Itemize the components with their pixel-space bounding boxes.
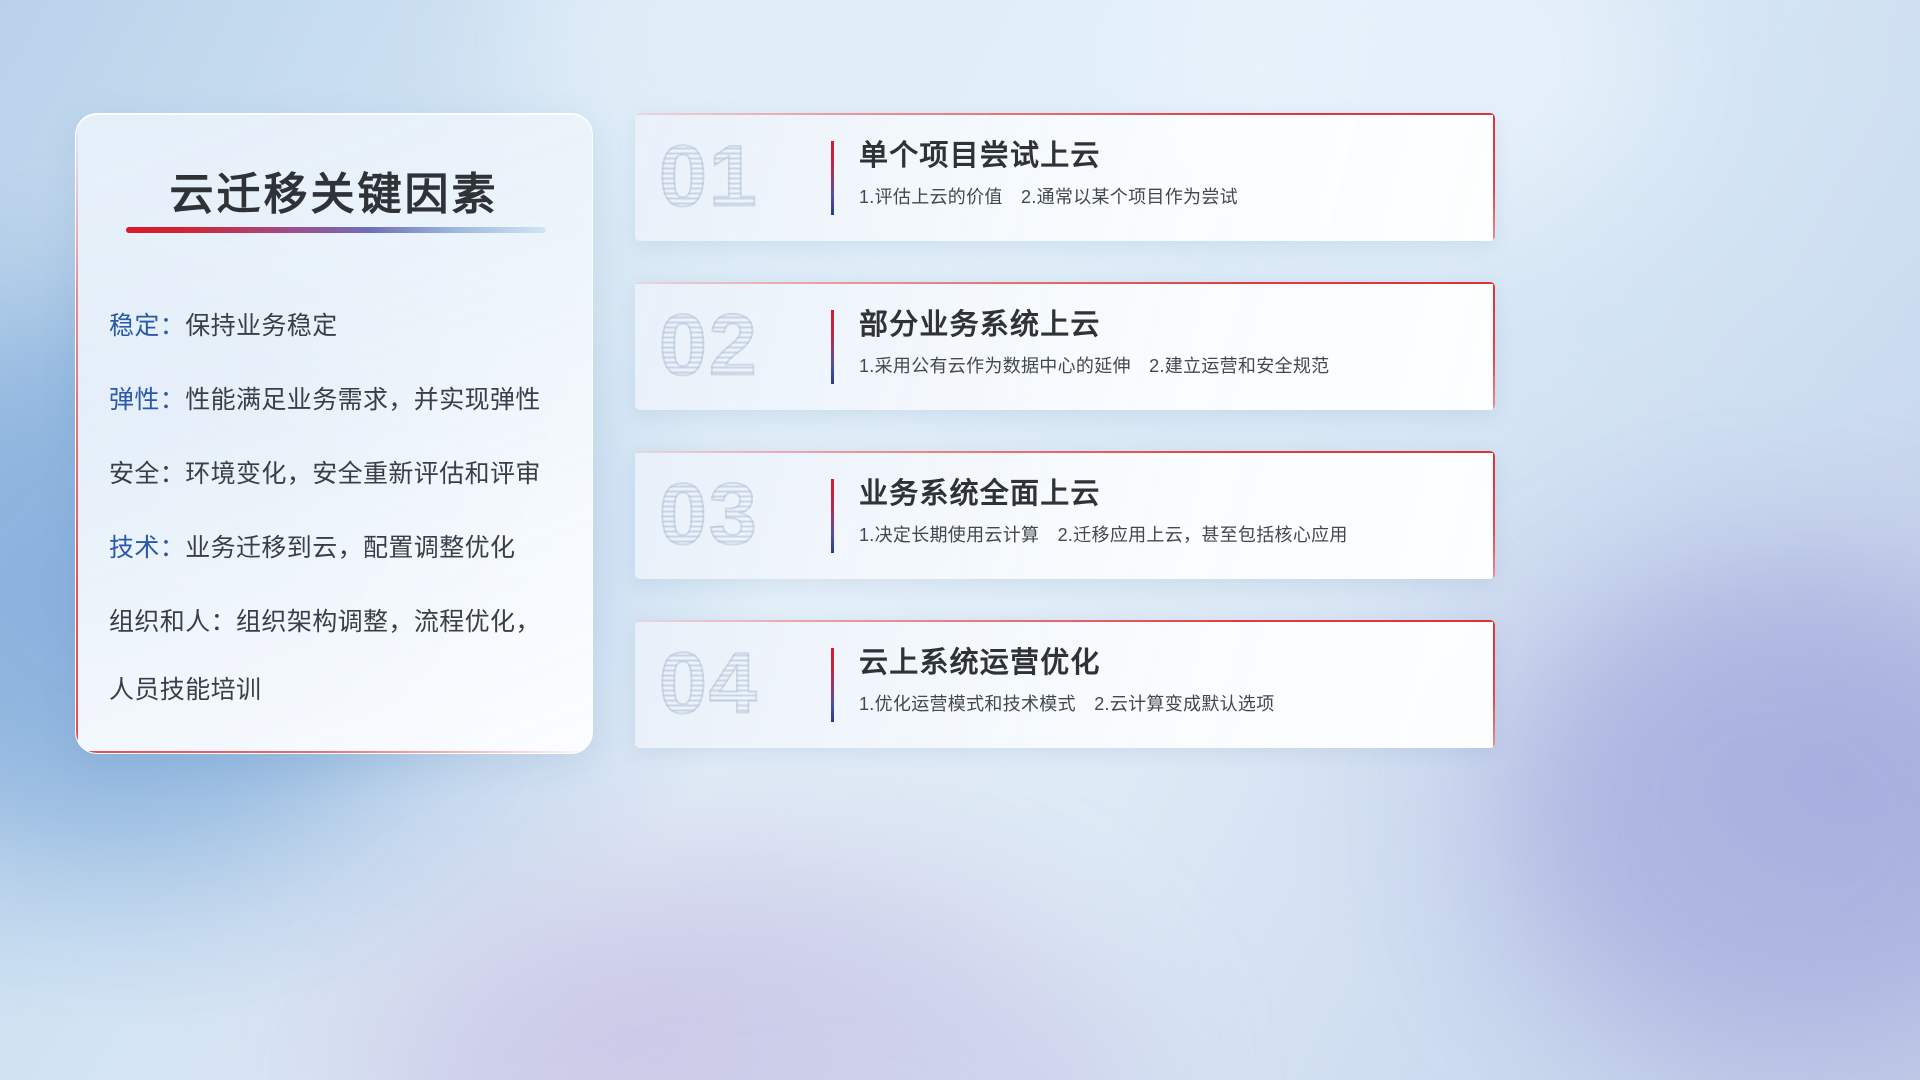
list-item-continuation: 人员技能培训 <box>109 678 568 703</box>
list-item: 稳定：保持业务稳定 <box>109 314 568 339</box>
list-item-text: 业务迁移到云，配置调整优化 <box>185 534 515 562</box>
stage-divider-bar <box>831 648 834 722</box>
stage-title: 云上系统运营优化 <box>859 646 1469 681</box>
list-item-text: 组织架构调整，流程优化， <box>236 608 541 636</box>
stage-number: 04 <box>659 635 759 734</box>
stage-title: 单个项目尝试上云 <box>859 139 1469 174</box>
stage-subtitle: 1.采用公有云作为数据中心的延伸 2.建立运营和安全规范 <box>859 355 1469 378</box>
stage-card-body: 单个项目尝试上云 1.评估上云的价值 2.通常以某个项目作为尝试 <box>859 139 1469 210</box>
stage-number: 01 <box>659 128 759 227</box>
stage-cards-list: 01 单个项目尝试上云 1.评估上云的价值 2.通常以某个项目作为尝试 02 部… <box>635 113 1495 748</box>
stage-number: 03 <box>659 466 759 565</box>
list-item-label: 技术： <box>109 534 185 562</box>
list-item: 弹性：性能满足业务需求，并实现弹性 <box>109 388 568 413</box>
list-item-label: 稳定： <box>109 312 185 340</box>
title-underline-gradient <box>126 227 546 233</box>
stage-number: 02 <box>659 297 759 396</box>
stage-card[interactable]: 01 单个项目尝试上云 1.评估上云的价值 2.通常以某个项目作为尝试 <box>635 113 1495 241</box>
stage-card-body: 业务系统全面上云 1.决定长期使用云计算 2.迁移应用上云，甚至包括核心应用 <box>859 477 1469 548</box>
key-factors-panel: 云迁移关键因素 稳定：保持业务稳定 弹性：性能满足业务需求，并实现弹性 安全：环… <box>75 113 593 754</box>
list-item-text: 性能满足业务需求，并实现弹性 <box>185 386 541 414</box>
stage-title: 业务系统全面上云 <box>859 477 1469 512</box>
stage-divider-bar <box>831 310 834 384</box>
list-item-text: 环境变化，安全重新评估和评审 <box>185 460 541 488</box>
background-blob-right <box>1500 560 1920 1080</box>
stage-subtitle: 1.评估上云的价值 2.通常以某个项目作为尝试 <box>859 186 1469 209</box>
list-item-label: 安全： <box>109 460 185 488</box>
stage-subtitle: 1.优化运营模式和技术模式 2.云计算变成默认选项 <box>859 693 1469 716</box>
stage-card-body: 云上系统运营优化 1.优化运营模式和技术模式 2.云计算变成默认选项 <box>859 646 1469 717</box>
list-item-label: 弹性： <box>109 386 185 414</box>
stage-divider-bar <box>831 479 834 553</box>
stage-subtitle: 1.决定长期使用云计算 2.迁移应用上云，甚至包括核心应用 <box>859 524 1469 547</box>
stage-card[interactable]: 04 云上系统运营优化 1.优化运营模式和技术模式 2.云计算变成默认选项 <box>635 620 1495 748</box>
list-item: 安全：环境变化，安全重新评估和评审 <box>109 462 568 487</box>
stage-card[interactable]: 03 业务系统全面上云 1.决定长期使用云计算 2.迁移应用上云，甚至包括核心应… <box>635 451 1495 579</box>
stage-card-body: 部分业务系统上云 1.采用公有云作为数据中心的延伸 2.建立运营和安全规范 <box>859 308 1469 379</box>
list-item: 技术：业务迁移到云，配置调整优化 <box>109 536 568 561</box>
key-factors-list: 稳定：保持业务稳定 弹性：性能满足业务需求，并实现弹性 安全：环境变化，安全重新… <box>109 314 568 703</box>
list-item-text: 保持业务稳定 <box>185 312 337 340</box>
stage-title: 部分业务系统上云 <box>859 308 1469 343</box>
stage-card[interactable]: 02 部分业务系统上云 1.采用公有云作为数据中心的延伸 2.建立运营和安全规范 <box>635 282 1495 410</box>
page-title: 云迁移关键因素 <box>76 158 592 222</box>
stage-divider-bar <box>831 141 834 215</box>
slide-root: 云迁移关键因素 稳定：保持业务稳定 弹性：性能满足业务需求，并实现弹性 安全：环… <box>0 0 1920 1080</box>
background-blob-bottom <box>380 880 1140 1080</box>
list-item-label: 组织和人： <box>109 608 236 636</box>
list-item: 组织和人：组织架构调整，流程优化， <box>109 610 568 635</box>
